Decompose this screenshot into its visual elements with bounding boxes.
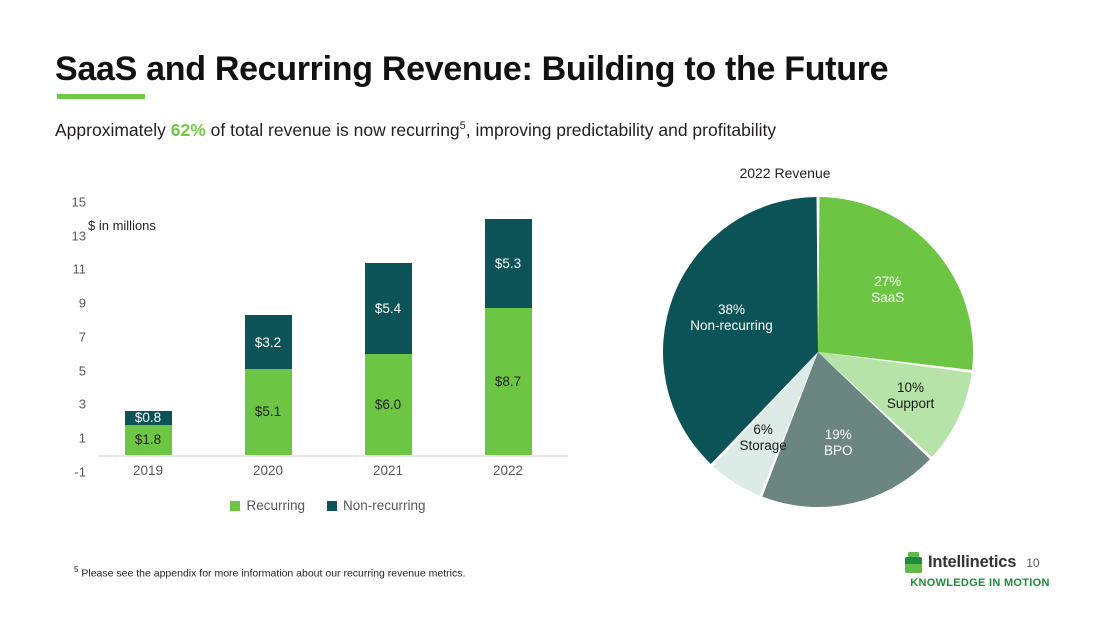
legend-swatch-icon <box>327 501 337 511</box>
bar-column-2021[interactable]: $5.4$6.0 <box>365 263 412 455</box>
y-axis-tick: 7 <box>46 329 86 344</box>
bar-segment-non-recurring[interactable]: $5.4 <box>365 263 412 354</box>
pie-label-bpo: 19%BPO <box>824 427 853 459</box>
pie-label-saas: 27%SaaS <box>871 274 904 306</box>
legend-label: Recurring <box>246 498 305 513</box>
bar-column-2020[interactable]: $3.2$5.1 <box>245 315 292 455</box>
bar-segment-recurring[interactable]: $8.7 <box>485 308 532 455</box>
bar-value-label: $5.4 <box>375 301 401 316</box>
bar-value-label: $5.1 <box>255 404 281 419</box>
bar-value-label: $8.7 <box>495 374 521 389</box>
x-axis-label-2021: 2021 <box>333 463 443 478</box>
legend-swatch-icon <box>230 501 240 511</box>
logo-row: Intellinetics 10 <box>905 552 1065 573</box>
y-axis-tick: 11 <box>46 262 86 277</box>
page-title: SaaS and Recurring Revenue: Building to … <box>55 50 888 89</box>
y-axis-tick: 3 <box>46 397 86 412</box>
y-axis-tick: 5 <box>46 363 86 378</box>
bar-segment-non-recurring[interactable]: $0.8 <box>125 411 172 424</box>
pie-label-support: 10%Support <box>887 380 934 412</box>
bar-chart-y-axis: 15131197531-1 <box>40 180 86 480</box>
brand-logo-block: Intellinetics 10 KNOWLEDGE IN MOTION <box>905 552 1065 589</box>
pie-chart: 2022 Revenue 27%SaaS10%Support19%BPO6%St… <box>620 165 1020 535</box>
footnote-text: Please see the appendix for more informa… <box>78 568 465 580</box>
page-number: 10 <box>1026 556 1039 570</box>
logo-icon-stripe <box>905 564 922 573</box>
pie-label-storage: 6%Storage <box>740 422 787 454</box>
y-axis-tick: 13 <box>46 228 86 243</box>
bar-value-label: $5.3 <box>495 256 521 271</box>
legend-label: Non-recurring <box>343 498 426 513</box>
y-axis-tick: -1 <box>46 464 86 479</box>
legend-item-non-recurring[interactable]: Non-recurring <box>327 498 426 513</box>
pie-label-percent: 38% <box>690 302 773 318</box>
bar-value-label: $6.0 <box>375 397 401 412</box>
bar-segment-non-recurring[interactable]: $3.2 <box>245 315 292 369</box>
bar-segment-recurring[interactable]: $5.1 <box>245 369 292 455</box>
stacked-bar-chart: 15131197531-1 $ in millions $0.8$1.82019… <box>40 180 580 520</box>
bar-chart-legend: RecurringNon-recurring <box>88 498 568 513</box>
y-axis-tick: 1 <box>46 431 86 446</box>
pie-label-name: BPO <box>824 443 853 459</box>
logo-tagline: KNOWLEDGE IN MOTION <box>905 577 1055 589</box>
pie-chart-svg <box>648 187 988 517</box>
subtitle-text-before: Approximately <box>55 120 171 140</box>
page-subtitle: Approximately 62% of total revenue is no… <box>55 120 776 141</box>
pie-label-percent: 10% <box>887 380 934 396</box>
bar-value-label: $1.8 <box>135 432 161 447</box>
pie-chart-title: 2022 Revenue <box>620 165 950 181</box>
x-axis-label-2020: 2020 <box>213 463 323 478</box>
legend-item-recurring[interactable]: Recurring <box>230 498 305 513</box>
bar-segment-recurring[interactable]: $6.0 <box>365 354 412 455</box>
bar-chart-baseline <box>98 455 568 457</box>
pie-label-percent: 19% <box>824 427 853 443</box>
pie-label-non-recurring: 38%Non-recurring <box>690 302 773 334</box>
pie-label-name: SaaS <box>871 290 904 306</box>
bar-chart-plot-area: $0.8$1.82019$3.2$5.12020$5.4$6.02021$5.3… <box>88 180 568 480</box>
pie-label-name: Non-recurring <box>690 318 773 334</box>
y-axis-tick: 15 <box>46 195 86 210</box>
logo-wordmark: Intellinetics <box>928 553 1016 572</box>
subtitle-text-after: of total revenue is now recurring <box>206 120 460 140</box>
slide: SaaS and Recurring Revenue: Building to … <box>0 0 1100 619</box>
pie-label-name: Support <box>887 396 934 412</box>
bar-segment-recurring[interactable]: $1.8 <box>125 425 172 455</box>
intellinetics-logo-icon <box>905 552 922 573</box>
pie-label-percent: 6% <box>740 422 787 438</box>
pie-label-percent: 27% <box>871 274 904 290</box>
subtitle-highlight-percent: 62% <box>171 120 206 140</box>
x-axis-label-2022: 2022 <box>453 463 563 478</box>
bar-value-label: $0.8 <box>135 410 161 425</box>
pie-label-name: Storage <box>740 438 787 454</box>
footnote: 5 Please see the appendix for more infor… <box>74 565 465 580</box>
title-underline-accent <box>57 94 145 99</box>
bar-value-label: $3.2 <box>255 335 281 350</box>
y-axis-tick: 9 <box>46 296 86 311</box>
subtitle-text-end: , improving predictability and profitabi… <box>466 120 776 140</box>
bar-segment-non-recurring[interactable]: $5.3 <box>485 219 532 308</box>
x-axis-label-2019: 2019 <box>93 463 203 478</box>
bar-column-2022[interactable]: $5.3$8.7 <box>485 219 532 455</box>
bar-column-2019[interactable]: $0.8$1.8 <box>125 411 172 455</box>
